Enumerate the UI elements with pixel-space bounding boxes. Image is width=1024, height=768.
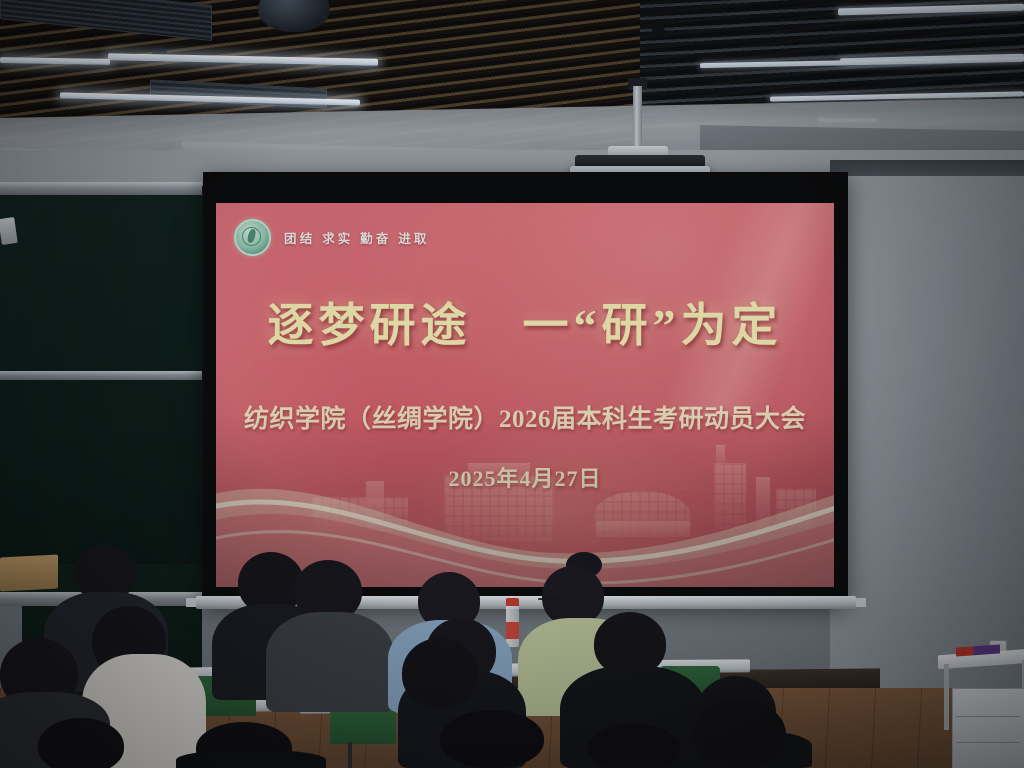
blackboard [0, 186, 211, 606]
person-glasses [538, 598, 556, 600]
slide-motto: 团结 求实 勤奋 进取 [284, 228, 430, 247]
person-head [402, 638, 478, 708]
blackboard-rail-middle [0, 371, 202, 380]
slide-date: 2025年4月27日 [216, 461, 834, 493]
water-bottle-label [506, 622, 519, 639]
person-head [542, 566, 604, 626]
person-head [440, 710, 544, 768]
person-head [694, 700, 786, 768]
person-head [38, 718, 124, 768]
slide-header: 团结 求实 勤奋 进取 [234, 219, 430, 256]
ceiling-fixture-nub-3 [652, 26, 665, 37]
person-body [176, 750, 326, 768]
presentation-slide: 团结 求实 勤奋 进取 逐梦研途 一“研”为定 纺织学院（丝绸学院）2026届本… [216, 203, 834, 587]
blackboard-chalk-ledge [0, 554, 58, 591]
chair-leg-1 [348, 742, 352, 768]
classroom-photo-scene: EPSON [0, 0, 1024, 768]
university-emblem-icon [234, 219, 271, 256]
person-head [588, 724, 680, 768]
person-body [266, 612, 394, 712]
water-bottle-cap [506, 598, 519, 606]
person-glasses [284, 594, 306, 596]
cabinet-seam-1 [956, 716, 1020, 717]
projector-mount-pole [633, 86, 642, 148]
equipment-cabinet [952, 688, 1024, 768]
blackboard-rail-top [0, 182, 202, 195]
slide-title: 逐梦研途 一“研”为定 [216, 289, 834, 355]
right-wall [830, 176, 1024, 701]
cabinet-seam-2 [956, 742, 1020, 743]
side-table-leg-left [944, 664, 949, 730]
slide-subtitle: 纺织学院（丝绸学院）2026届本科生考研动员大会 [216, 399, 834, 435]
